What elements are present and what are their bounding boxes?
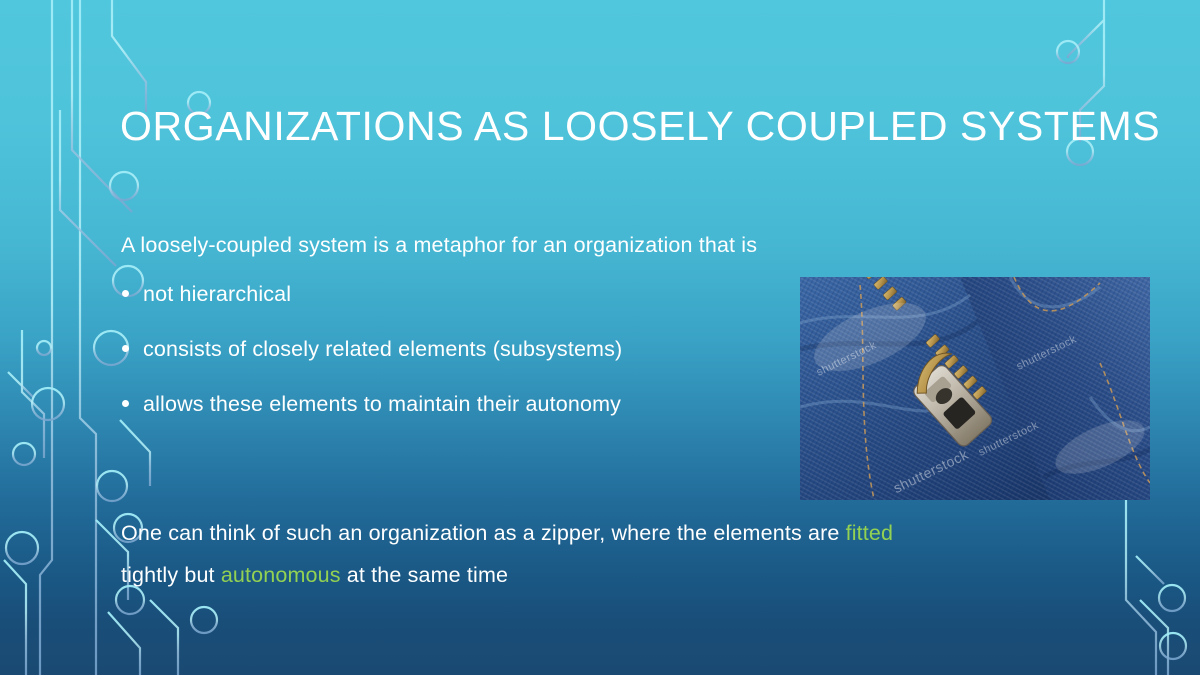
bullet-dot-icon [122, 290, 129, 297]
zipper-denim-image: shutterstock shutterstock shutterstock s… [800, 277, 1150, 500]
closing-paragraph: One can think of such an organization as… [121, 513, 901, 597]
slide-canvas: ORGANIZATIONS AS LOOSELY COUPLED SYSTEMS… [0, 0, 1200, 675]
closing-text-part2: tightly but [121, 563, 221, 587]
list-item: not hierarchical [121, 281, 821, 308]
bullet-dot-icon [122, 400, 129, 407]
slide-title: ORGANIZATIONS AS LOOSELY COUPLED SYSTEMS [120, 103, 1120, 150]
closing-highlight-autonomous: autonomous [221, 563, 341, 587]
slide-body: A loosely-coupled system is a metaphor f… [121, 232, 821, 418]
list-item-label: allows these elements to maintain their … [143, 392, 621, 416]
list-item: consists of closely related elements (su… [121, 336, 821, 363]
list-item: allows these elements to maintain their … [121, 391, 821, 418]
list-item-label: not hierarchical [143, 282, 291, 306]
closing-text-part3: at the same time [341, 563, 508, 587]
bullet-list: not hierarchical consists of closely rel… [121, 281, 821, 418]
list-item-label: consists of closely related elements (su… [143, 337, 622, 361]
closing-highlight-fitted: fitted [846, 521, 894, 545]
closing-text-part1: One can think of such an organization as… [121, 521, 846, 545]
lead-paragraph: A loosely-coupled system is a metaphor f… [121, 232, 821, 259]
bullet-dot-icon [122, 345, 129, 352]
